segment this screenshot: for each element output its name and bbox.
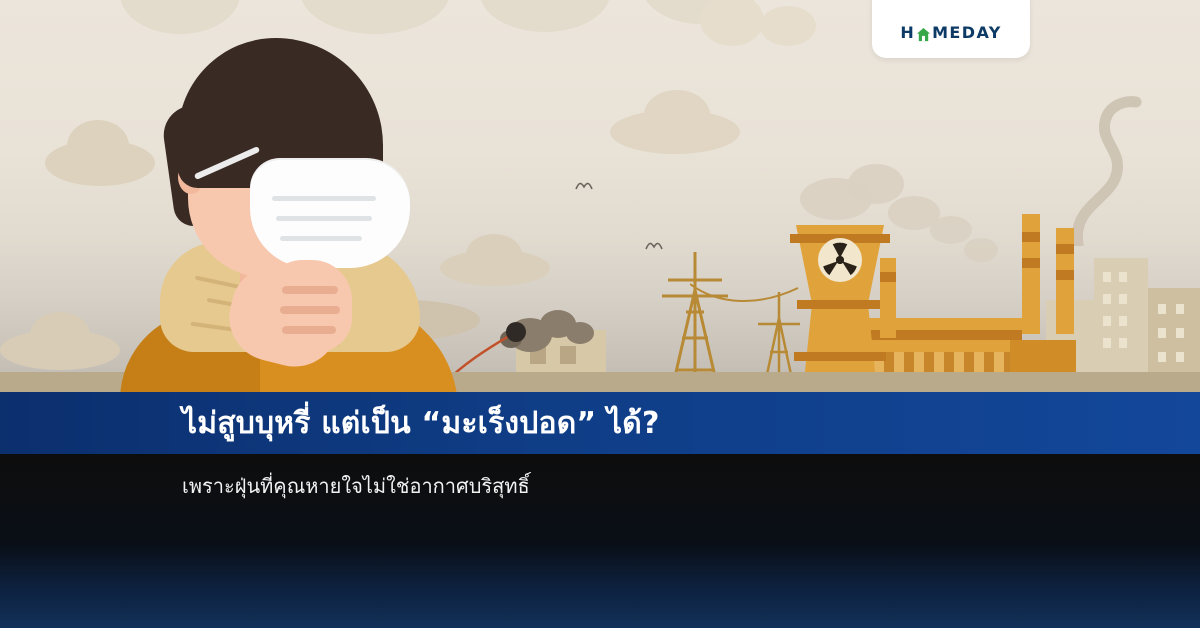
headline-text: ไม่สูบบุหรี่ แต่เป็น “มะเร็งปอด” ได้? — [182, 400, 1082, 447]
smoke-blob — [760, 6, 816, 46]
radiation-icon — [818, 238, 862, 282]
face-mask — [250, 158, 410, 268]
brand-logo[interactable]: H MEDAY — [872, 0, 1030, 58]
smoke-puff — [930, 216, 972, 244]
cloud-shape — [0, 330, 120, 370]
smokestack-shape — [1056, 228, 1074, 334]
power-line — [690, 278, 810, 318]
smoke-plume — [1020, 96, 1160, 246]
smoke-puff — [964, 238, 998, 262]
house-icon — [916, 27, 931, 42]
smoke-puff — [848, 164, 904, 204]
smokestack-shape — [1022, 214, 1040, 334]
dust-cloud — [566, 322, 594, 344]
poster-canvas: ไม่สูบบุหรี่ แต่เป็น “มะเร็งปอด” ได้? เพ… — [0, 0, 1200, 628]
hand-shape — [266, 260, 352, 352]
logo-text-right: MEDAY — [932, 23, 1002, 42]
cloud-shape — [440, 250, 550, 286]
logo-text-left: H — [900, 23, 915, 42]
subheadline-text: เพราะฝุ่นที่คุณหายใจไม่ใช่อากาศบริสุทธิ์ — [182, 470, 1082, 502]
smokestack-shape — [880, 258, 896, 338]
person-illustration — [120, 10, 450, 410]
logo-wordmark: H MEDAY — [900, 23, 1001, 42]
cloud-shape — [610, 110, 740, 154]
bird-icon — [575, 178, 593, 194]
ruined-window — [560, 346, 576, 364]
